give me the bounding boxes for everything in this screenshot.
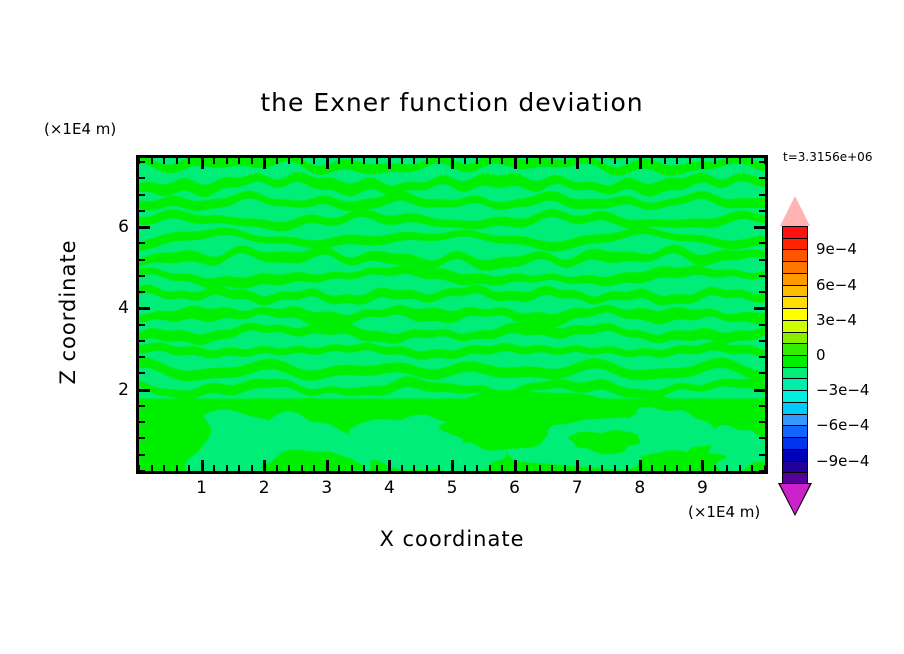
x-tick-top xyxy=(213,158,215,164)
x-tick-label: 3 xyxy=(321,478,332,498)
x-tick-top xyxy=(326,158,329,169)
x-tick-top xyxy=(238,158,240,164)
x-tick-top xyxy=(426,158,428,164)
x-tick-bottom xyxy=(201,460,204,471)
y-tick-left xyxy=(139,372,145,374)
y-tick-right xyxy=(759,454,765,456)
y-tick-left xyxy=(139,389,150,392)
x-tick-label: 9 xyxy=(697,478,708,498)
colorbar[interactable] xyxy=(778,196,812,514)
x-tick-top xyxy=(651,158,653,164)
y-tick-right xyxy=(759,194,765,196)
x-tick-bottom xyxy=(614,465,616,471)
x-tick-bottom xyxy=(701,460,704,471)
colorbar-tick-label: 3e−4 xyxy=(816,311,857,329)
x-tick-label: 6 xyxy=(509,478,520,498)
y-tick-right xyxy=(759,324,765,326)
x-tick-bottom xyxy=(651,465,653,471)
x-tick-top xyxy=(564,158,566,164)
x-tick-top xyxy=(176,158,178,164)
x-tick-bottom xyxy=(426,465,428,471)
y-tick-right xyxy=(759,291,765,293)
x-tick-bottom xyxy=(263,460,266,471)
y-tick-left xyxy=(139,470,145,472)
x-tick-top xyxy=(639,158,642,169)
colorbar-tick-label: 9e−4 xyxy=(816,240,857,258)
y-axis-title: Z coordinate xyxy=(56,202,80,422)
y-tick-label: 4 xyxy=(103,298,129,318)
x-tick-top xyxy=(188,158,190,164)
y-tick-right xyxy=(759,421,765,423)
y-tick-right xyxy=(754,226,765,229)
x-tick-bottom xyxy=(526,465,528,471)
x-tick-bottom xyxy=(664,465,666,471)
y-tick-left xyxy=(139,259,145,261)
x-tick-bottom xyxy=(751,465,753,471)
x-tick-top xyxy=(363,158,365,164)
y-tick-left xyxy=(139,356,145,358)
x-tick-bottom xyxy=(726,465,728,471)
page-title: the Exner function deviation xyxy=(0,88,904,117)
x-tick-bottom xyxy=(564,465,566,471)
x-axis-title: X coordinate xyxy=(0,527,904,551)
x-tick-top xyxy=(151,158,153,164)
x-tick-bottom xyxy=(163,465,165,471)
y-tick-left xyxy=(139,194,145,196)
colorbar-under-arrow xyxy=(780,484,810,514)
x-tick-bottom xyxy=(388,460,391,471)
y-tick-left xyxy=(139,161,145,163)
contour-field xyxy=(139,158,765,471)
x-tick-bottom xyxy=(676,465,678,471)
x-tick-bottom xyxy=(338,465,340,471)
x-tick-top xyxy=(514,158,517,169)
x-tick-bottom xyxy=(401,465,403,471)
x-tick-bottom xyxy=(714,465,716,471)
colorbar-tick-label: −9e−4 xyxy=(816,452,869,470)
x-tick-bottom xyxy=(413,465,415,471)
y-tick-left xyxy=(139,210,145,212)
colorbar-tick-label: −3e−4 xyxy=(816,381,869,399)
x-tick-top xyxy=(489,158,491,164)
x-tick-top xyxy=(539,158,541,164)
y-axis-units-label: (×1E4 m) xyxy=(44,120,116,138)
y-tick-left xyxy=(139,421,145,423)
x-tick-bottom xyxy=(288,465,290,471)
colorbar-tick-label: −6e−4 xyxy=(816,416,869,434)
x-tick-top xyxy=(601,158,603,164)
y-tick-right xyxy=(759,161,765,163)
x-tick-top xyxy=(313,158,315,164)
x-tick-top xyxy=(276,158,278,164)
x-tick-bottom xyxy=(238,465,240,471)
y-tick-left xyxy=(139,242,145,244)
x-tick-top xyxy=(438,158,440,164)
x-tick-bottom xyxy=(376,465,378,471)
x-tick-bottom xyxy=(501,465,503,471)
x-tick-bottom xyxy=(213,465,215,471)
x-tick-top xyxy=(351,158,353,164)
y-tick-left xyxy=(139,454,145,456)
x-tick-top xyxy=(201,158,204,169)
y-tick-right xyxy=(759,275,765,277)
x-tick-bottom xyxy=(476,465,478,471)
x-tick-bottom xyxy=(689,465,691,471)
y-tick-left xyxy=(139,275,145,277)
x-tick-top xyxy=(701,158,704,169)
x-tick-bottom xyxy=(589,465,591,471)
x-tick-bottom xyxy=(576,460,579,471)
x-tick-top xyxy=(338,158,340,164)
x-tick-bottom xyxy=(226,465,228,471)
x-tick-top xyxy=(226,158,228,164)
colorbar-tick-label: 0 xyxy=(816,346,826,364)
y-tick-left xyxy=(139,405,145,407)
x-tick-top xyxy=(626,158,628,164)
y-tick-left xyxy=(139,177,145,179)
x-axis-units-label: (×1E4 m) xyxy=(688,503,760,521)
x-tick-top xyxy=(526,158,528,164)
x-tick-label: 2 xyxy=(259,478,270,498)
x-tick-label: 5 xyxy=(447,478,458,498)
x-tick-top xyxy=(464,158,466,164)
x-tick-top xyxy=(401,158,403,164)
x-tick-top xyxy=(576,158,579,169)
x-tick-bottom xyxy=(276,465,278,471)
x-tick-top xyxy=(551,158,553,164)
x-tick-label: 7 xyxy=(572,478,583,498)
x-tick-bottom xyxy=(451,460,454,471)
x-tick-label: 4 xyxy=(384,478,395,498)
y-tick-right xyxy=(759,405,765,407)
y-tick-right xyxy=(754,389,765,392)
x-tick-bottom xyxy=(639,460,642,471)
y-tick-right xyxy=(759,340,765,342)
x-tick-top xyxy=(251,158,253,164)
x-tick-bottom xyxy=(489,465,491,471)
x-tick-top xyxy=(751,158,753,164)
x-tick-top xyxy=(163,158,165,164)
x-tick-top xyxy=(263,158,266,169)
x-tick-top xyxy=(501,158,503,164)
y-tick-right xyxy=(759,437,765,439)
x-tick-top xyxy=(739,158,741,164)
x-tick-top xyxy=(714,158,716,164)
x-tick-top xyxy=(589,158,591,164)
x-tick-top xyxy=(676,158,678,164)
x-tick-label: 1 xyxy=(196,478,207,498)
y-tick-left xyxy=(139,340,145,342)
x-tick-top xyxy=(664,158,666,164)
x-tick-bottom xyxy=(301,465,303,471)
x-tick-top xyxy=(376,158,378,164)
y-tick-label: 6 xyxy=(103,217,129,237)
y-tick-left xyxy=(139,437,145,439)
x-tick-bottom xyxy=(514,460,517,471)
y-tick-right xyxy=(759,470,765,472)
y-tick-left xyxy=(139,226,150,229)
y-tick-right xyxy=(759,210,765,212)
colorbar-tick-label: 6e−4 xyxy=(816,276,857,294)
x-tick-bottom xyxy=(326,460,329,471)
x-tick-bottom xyxy=(438,465,440,471)
x-tick-bottom xyxy=(539,465,541,471)
y-tick-left xyxy=(139,324,145,326)
x-tick-bottom xyxy=(363,465,365,471)
contour-plot-area[interactable] xyxy=(136,155,768,474)
x-tick-bottom xyxy=(176,465,178,471)
x-tick-top xyxy=(388,158,391,169)
x-tick-top xyxy=(614,158,616,164)
x-tick-bottom xyxy=(626,465,628,471)
x-tick-top xyxy=(301,158,303,164)
x-tick-bottom xyxy=(551,465,553,471)
x-tick-top xyxy=(413,158,415,164)
x-tick-bottom xyxy=(351,465,353,471)
x-tick-bottom xyxy=(601,465,603,471)
x-tick-top xyxy=(726,158,728,164)
x-tick-top xyxy=(689,158,691,164)
x-tick-bottom xyxy=(151,465,153,471)
x-tick-top xyxy=(476,158,478,164)
y-tick-right xyxy=(759,242,765,244)
x-tick-label: 8 xyxy=(634,478,645,498)
x-tick-bottom xyxy=(188,465,190,471)
y-tick-left xyxy=(139,307,150,310)
y-tick-right xyxy=(759,372,765,374)
colorbar-over-arrow xyxy=(780,196,810,226)
y-tick-right xyxy=(759,356,765,358)
x-tick-top xyxy=(451,158,454,169)
x-tick-bottom xyxy=(313,465,315,471)
y-tick-left xyxy=(139,291,145,293)
y-tick-right xyxy=(759,177,765,179)
x-tick-top xyxy=(288,158,290,164)
x-tick-bottom xyxy=(739,465,741,471)
y-tick-right xyxy=(759,259,765,261)
y-tick-right xyxy=(754,307,765,310)
x-tick-bottom xyxy=(251,465,253,471)
timestamp-annotation: t=3.3156e+06 xyxy=(783,150,872,164)
y-tick-label: 2 xyxy=(103,380,129,400)
x-tick-bottom xyxy=(464,465,466,471)
